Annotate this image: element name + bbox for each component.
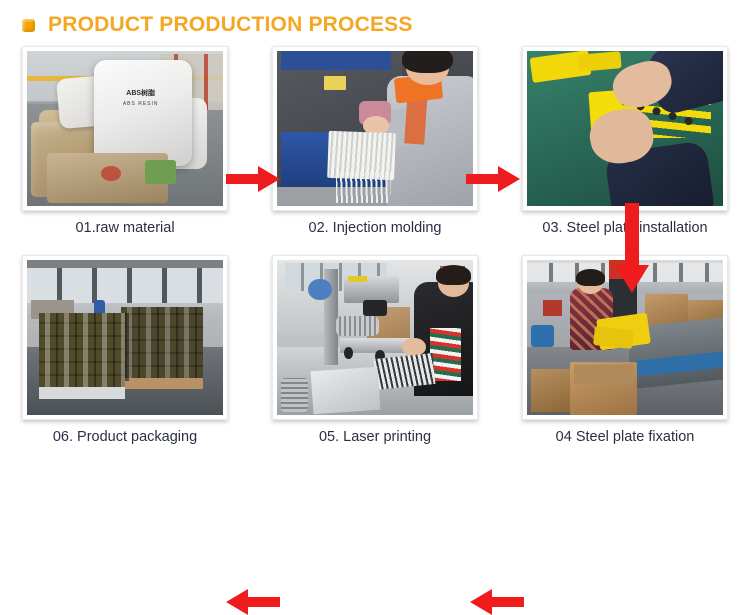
photo-laser-printing bbox=[277, 260, 473, 415]
step-03-photo-card[interactable] bbox=[522, 46, 728, 211]
process-step-02[interactable]: 02. Injection molding bbox=[250, 44, 500, 253]
process-step-03[interactable]: 03. Steel plate installation bbox=[500, 44, 750, 253]
process-step-04[interactable]: 04 Steel plate fixation bbox=[500, 253, 750, 462]
process-step-01[interactable]: ABS树脂 ABS RESIN 01.raw material bbox=[0, 44, 250, 253]
product-process-infographic: PRODUCT PRODUCTION PROCESS bbox=[0, 0, 750, 467]
step-02-photo-card[interactable] bbox=[272, 46, 478, 211]
step-06-caption: 06. Product packaging bbox=[0, 429, 250, 445]
step-02-caption: 02. Injection molding bbox=[250, 220, 500, 236]
arrow-step5-to-step6 bbox=[470, 589, 524, 615]
step-05-caption: 05. Laser printing bbox=[250, 429, 500, 445]
bag-label-cn: ABS树脂 bbox=[105, 88, 176, 98]
process-step-05[interactable]: 05. Laser printing bbox=[250, 253, 500, 462]
step-06-photo-card[interactable] bbox=[22, 255, 228, 420]
step-04-photo-card[interactable] bbox=[522, 255, 728, 420]
process-row-top: ABS树脂 ABS RESIN 01.raw material bbox=[0, 44, 750, 253]
process-step-06[interactable]: 06. Product packaging bbox=[0, 253, 250, 462]
step-04-caption: 04 Steel plate fixation bbox=[500, 429, 750, 445]
step-05-photo-card[interactable] bbox=[272, 255, 478, 420]
photo-steel-plate-fixation bbox=[527, 260, 723, 415]
photo-product-packaging bbox=[27, 260, 223, 415]
process-row-bottom: 06. Product packaging bbox=[0, 253, 750, 462]
arrow-step4-to-step5 bbox=[226, 589, 280, 615]
process-grid: ABS树脂 ABS RESIN 01.raw material bbox=[0, 44, 750, 462]
page-title-text: PRODUCT PRODUCTION PROCESS bbox=[48, 13, 413, 37]
bag-label-en: ABS RESIN bbox=[105, 101, 176, 107]
diamond-bullet-icon bbox=[22, 19, 35, 32]
step-03-caption: 03. Steel plate installation bbox=[500, 220, 750, 236]
photo-injection-molding bbox=[277, 51, 473, 206]
step-01-photo-card[interactable]: ABS树脂 ABS RESIN bbox=[22, 46, 228, 211]
step-01-caption: 01.raw material bbox=[0, 220, 250, 236]
photo-raw-material: ABS树脂 ABS RESIN bbox=[27, 51, 223, 206]
photo-steel-plate-installation bbox=[527, 51, 723, 206]
page-title: PRODUCT PRODUCTION PROCESS bbox=[22, 10, 413, 40]
